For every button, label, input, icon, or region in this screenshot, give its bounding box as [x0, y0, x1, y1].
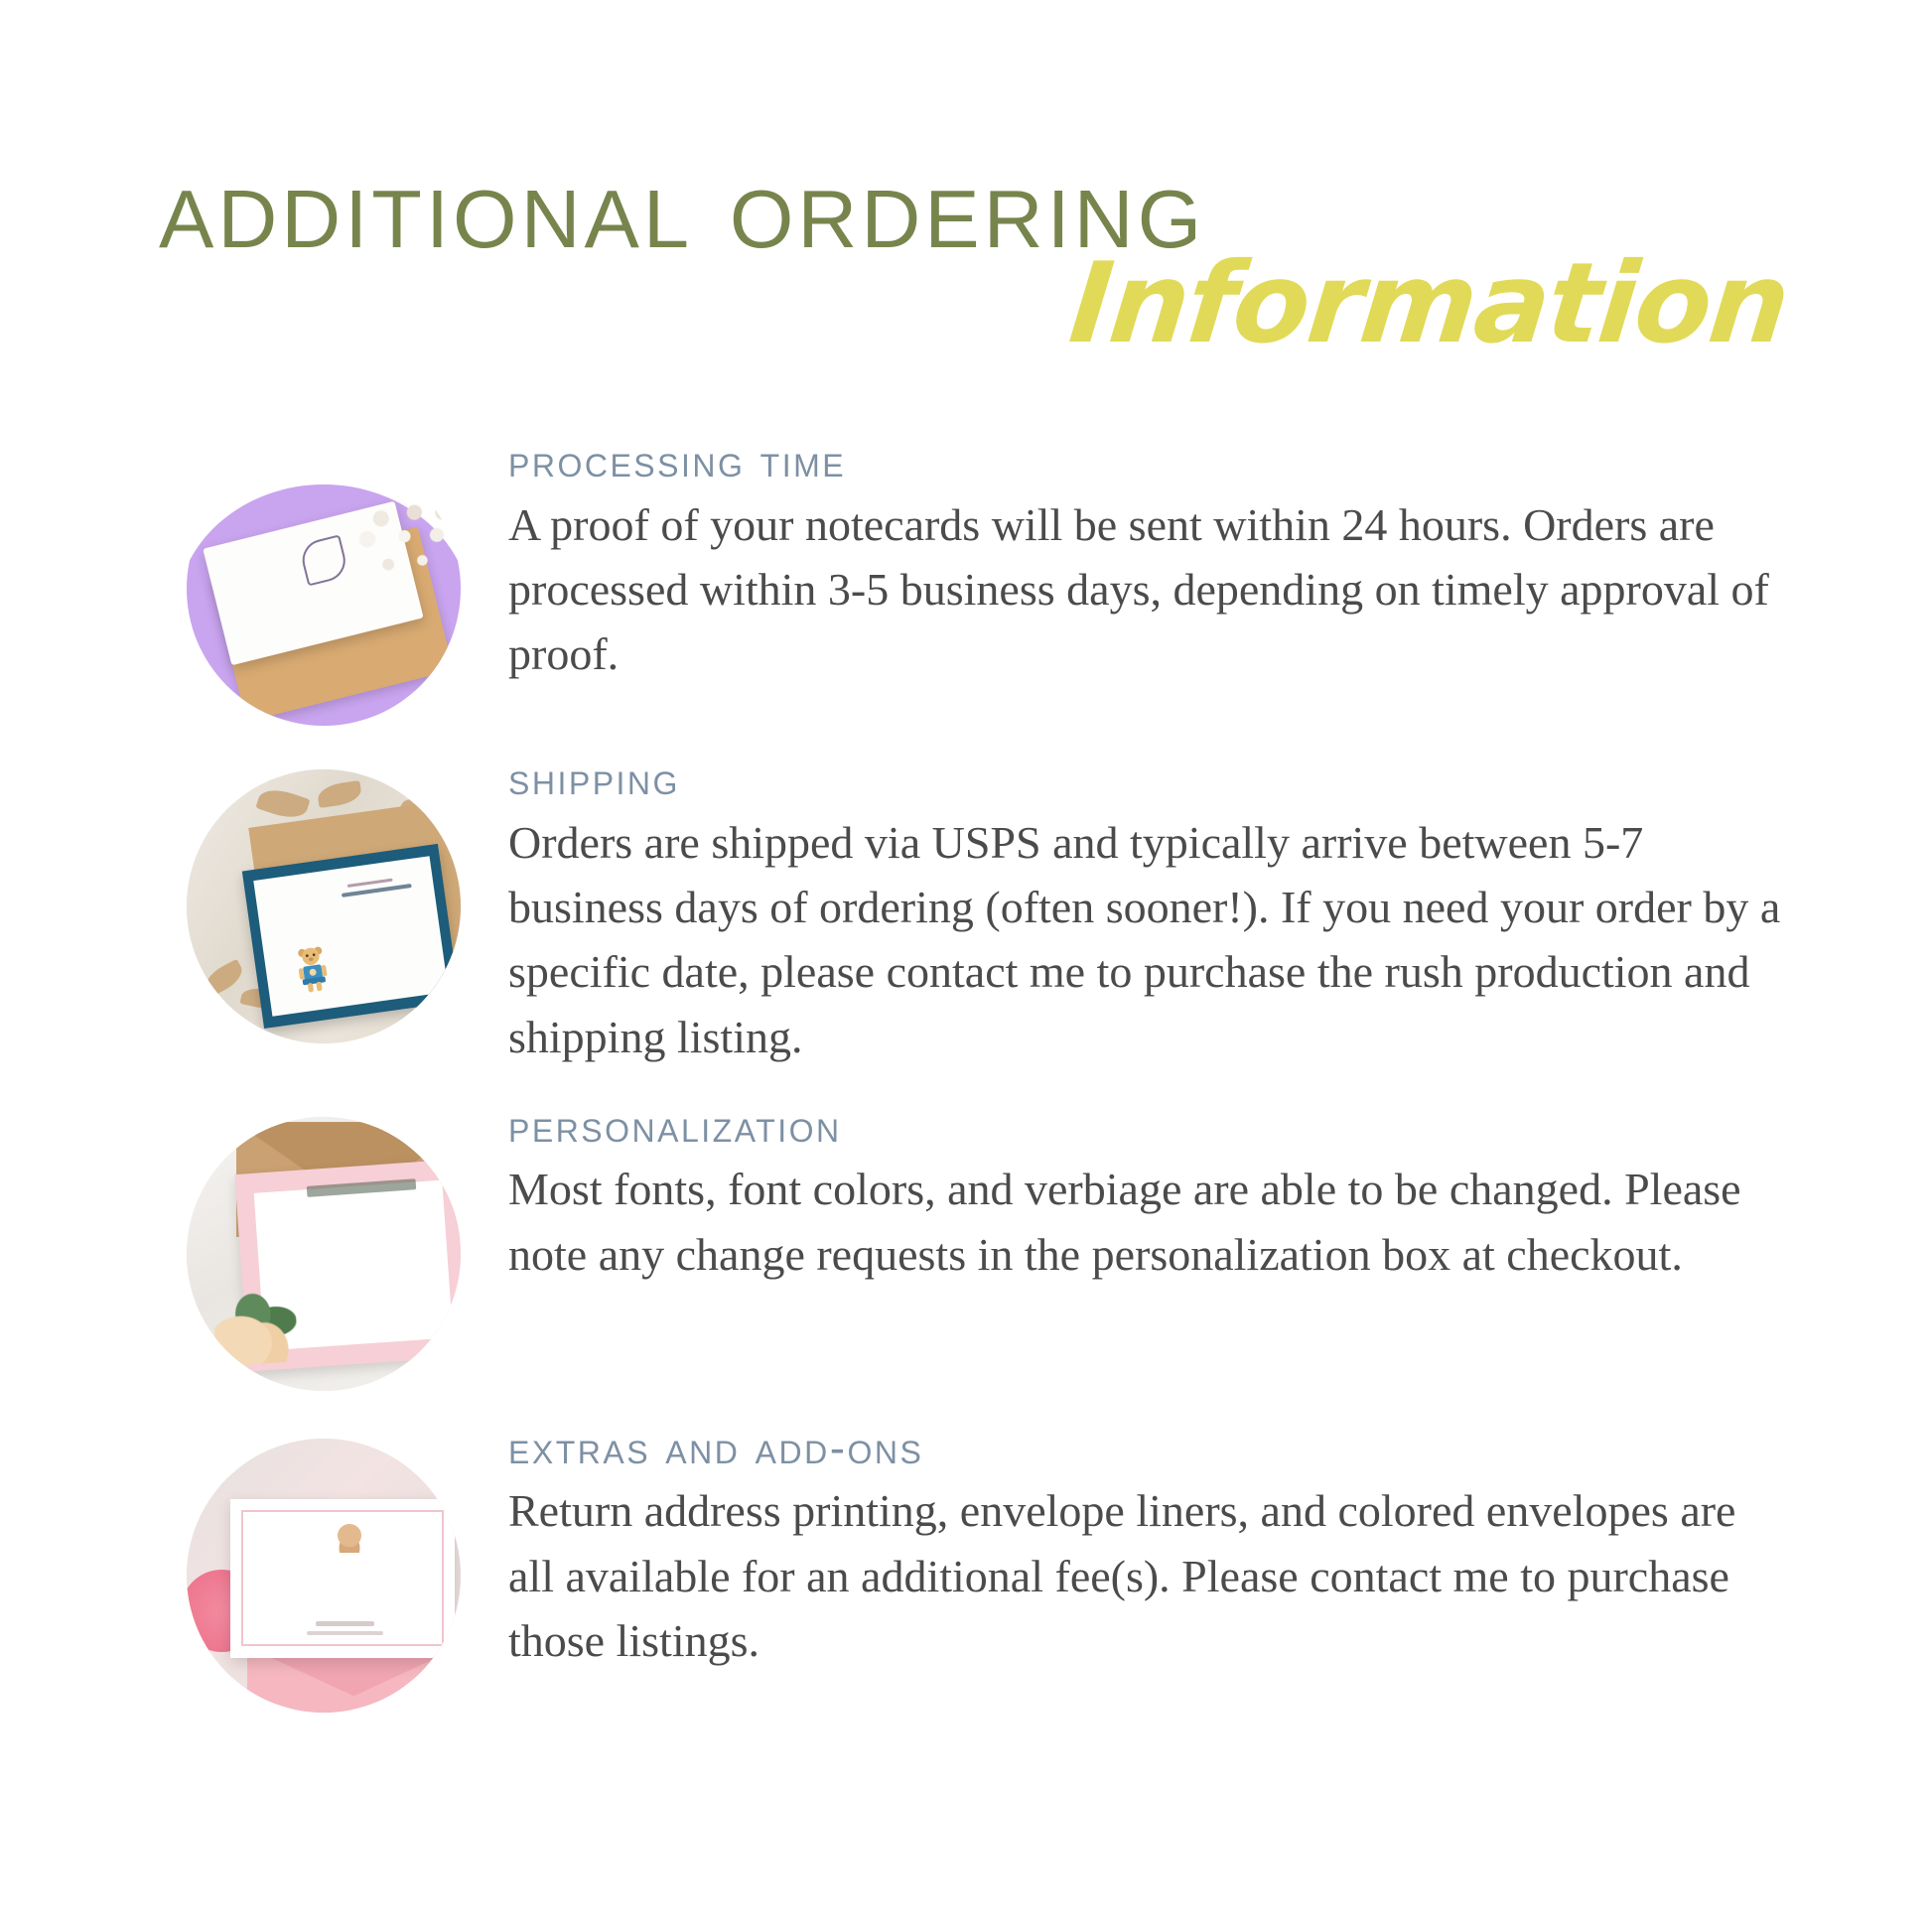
- thumbnail-wrap: [187, 452, 461, 726]
- section-heading-processing-time: Processing Time: [508, 436, 1783, 486]
- info-section-personalization: Personalization Most fonts, font colors,…: [0, 1117, 1932, 1391]
- title-line-script: Information: [153, 248, 1793, 359]
- section-heading-shipping: Shipping: [508, 754, 1783, 804]
- teddy-bear-notecard-photo: [187, 769, 461, 1043]
- section-heading-personalization: Personalization: [508, 1101, 1783, 1152]
- pink-scallop-notecard-photo: [187, 1117, 461, 1391]
- thumbnail-wrap: [187, 769, 461, 1043]
- info-section-processing-time: Processing Time A proof of your notecard…: [0, 452, 1932, 726]
- section-body: Extras and Add-Ons Return address printi…: [461, 1423, 1932, 1674]
- section-body: Processing Time A proof of your notecard…: [461, 436, 1932, 687]
- section-heading-extras-and-add-ons: Extras and Add-Ons: [508, 1423, 1783, 1473]
- section-body: Shipping Orders are shipped via USPS and…: [461, 754, 1932, 1069]
- info-sections-list: Processing Time A proof of your notecard…: [0, 452, 1932, 1713]
- info-section-extras-and-add-ons: Extras and Add-Ons Return address printi…: [0, 1439, 1932, 1713]
- info-section-shipping: Shipping Orders are shipped via USPS and…: [0, 769, 1932, 1069]
- section-body: Personalization Most fonts, font colors,…: [461, 1101, 1932, 1287]
- section-text-extras-and-add-ons: Return address printing, envelope liners…: [508, 1478, 1783, 1673]
- lavender-notecard-photo: [187, 452, 461, 726]
- rocking-horse-notecard-photo: [187, 1439, 461, 1713]
- section-text-processing-time: A proof of your notecards will be sent w…: [508, 492, 1783, 687]
- thumbnail-wrap: [187, 1439, 461, 1713]
- section-text-personalization: Most fonts, font colors, and verbiage ar…: [508, 1157, 1783, 1287]
- page-root: Additional Ordering Information Processi…: [0, 0, 1932, 1932]
- teddy-bear-illustration: [288, 942, 337, 997]
- section-text-shipping: Orders are shipped via USPS and typicall…: [508, 810, 1783, 1069]
- page-title: Additional Ordering Information: [159, 149, 1787, 359]
- thumbnail-wrap: [187, 1117, 461, 1391]
